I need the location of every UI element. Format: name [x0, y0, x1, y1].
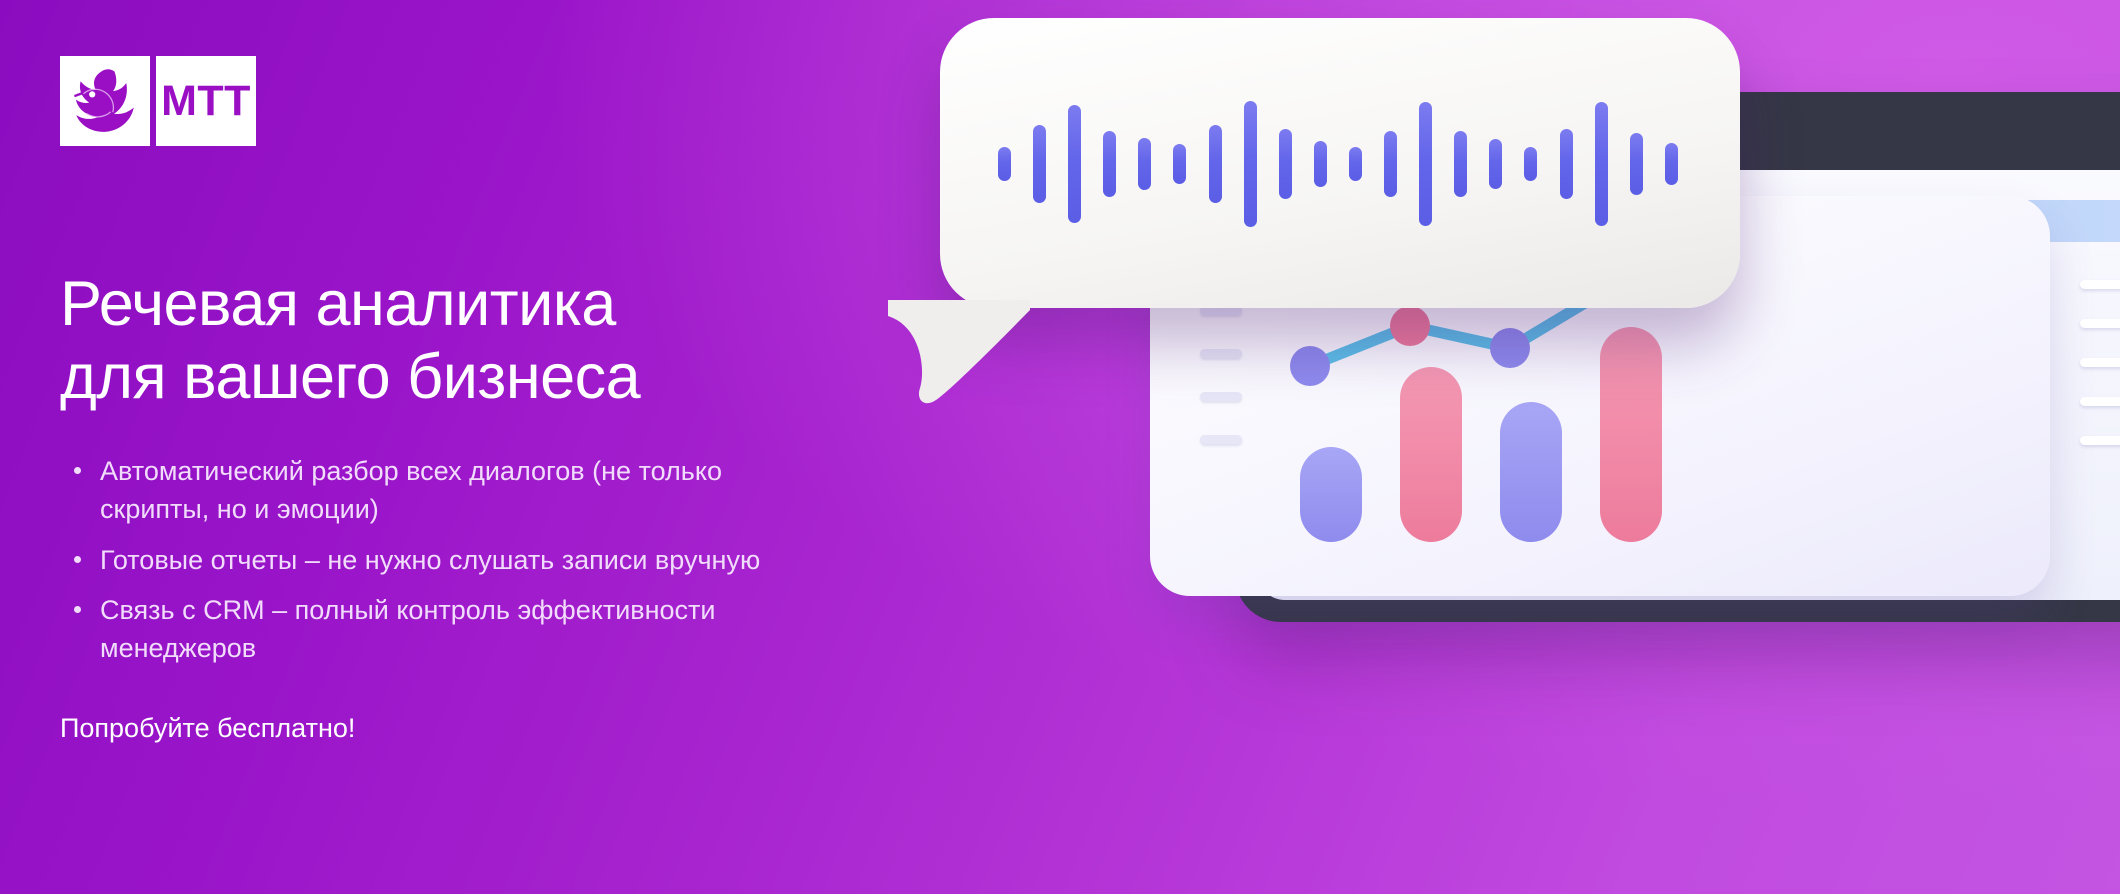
waveform-bar: [1630, 133, 1643, 195]
speech-bubble-tail-icon: [880, 296, 1060, 406]
promo-banner: МТТ Речевая аналитика для вашего бизнеса…: [0, 0, 2120, 894]
waveform-bar: [1560, 129, 1573, 199]
waveform-bar: [1454, 131, 1467, 197]
waveform-bar: [1595, 102, 1608, 226]
line-marker: [1490, 328, 1530, 368]
axis-tick: [1200, 349, 1242, 358]
legend-row: [2080, 319, 2120, 328]
waveform-bar: [1138, 138, 1151, 190]
speech-bubble: [940, 18, 1740, 308]
chart-y-axis: [1200, 306, 1242, 444]
cta-text[interactable]: Попробуйте бесплатно!: [60, 710, 1060, 748]
list-item: Готовые отчеты – не нужно слушать записи…: [60, 541, 800, 579]
waveform-bar: [1314, 141, 1327, 187]
waveform-bar: [1349, 147, 1362, 181]
waveform-bar: [998, 147, 1011, 181]
bird-icon: [69, 68, 141, 134]
axis-tick: [1200, 392, 1242, 401]
hero-illustration: [1060, 0, 2120, 894]
waveform-bar: [1665, 143, 1678, 185]
waveform-bar: [1279, 129, 1292, 199]
legend-row: [2080, 436, 2120, 445]
line-marker: [1290, 346, 1330, 386]
waveform-bar: [1068, 105, 1081, 223]
line-marker: [1390, 306, 1430, 346]
bird-logo-tile: [60, 56, 150, 146]
waveform-bar: [1244, 101, 1257, 227]
audio-waveform: [998, 74, 1678, 254]
chart-bar: [1300, 447, 1362, 542]
legend-row: [2080, 280, 2120, 289]
waveform-bar: [1173, 144, 1186, 184]
legend-row: [2080, 397, 2120, 406]
waveform-bar: [1489, 139, 1502, 189]
list-item: Связь с CRM – полный контроль эффективно…: [60, 591, 800, 668]
waveform-bar: [1419, 102, 1432, 226]
axis-tick: [1200, 435, 1242, 444]
mtt-logo[interactable]: МТТ: [60, 56, 256, 146]
logo-wordmark: МТТ: [161, 80, 251, 123]
waveform-bar: [1384, 131, 1397, 197]
legend-row: [2080, 358, 2120, 367]
list-item: Автоматический разбор всех диалогов (не …: [60, 452, 800, 529]
waveform-bar: [1033, 125, 1046, 203]
chart-legend-rows: [2080, 280, 2120, 445]
feature-list: Автоматический разбор всех диалогов (не …: [60, 452, 1060, 668]
waveform-bar: [1524, 147, 1537, 181]
waveform-bar: [1103, 131, 1116, 197]
waveform-bar: [1209, 125, 1222, 203]
logo-wordmark-tile: МТТ: [156, 56, 256, 146]
